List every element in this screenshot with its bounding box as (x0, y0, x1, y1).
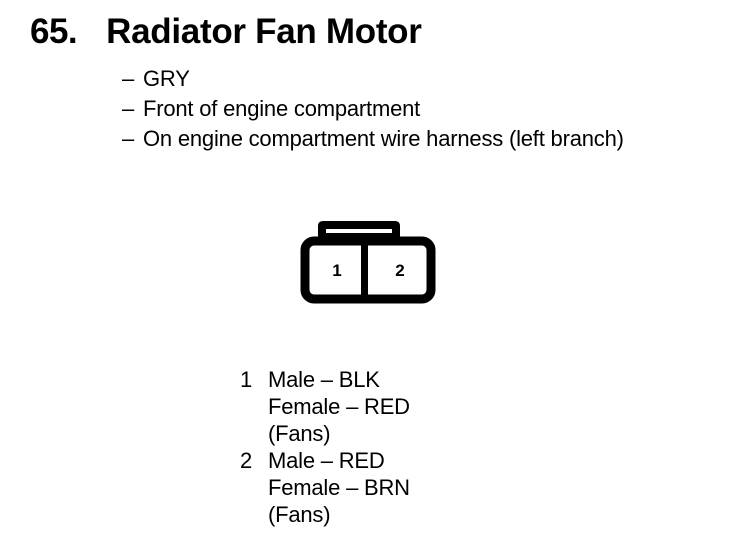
pin-circuit-note: (Fans) (268, 420, 560, 447)
pin-entry: 2 Male – RED Female – BRN (Fans) (240, 447, 560, 528)
attribute-text: GRY (143, 64, 190, 94)
attribute-text: On engine compartment wire harness (left… (143, 124, 624, 154)
pin-circuit-note: (Fans) (268, 501, 560, 528)
connector-svg: 1 2 (296, 216, 440, 304)
entry-title: Radiator Fan Motor (106, 12, 421, 52)
pin-legend: 1 Male – BLK Female – RED (Fans) 2 Male … (240, 366, 560, 528)
pin-number: 1 (240, 366, 268, 393)
cavity-label-2: 2 (395, 261, 404, 280)
attribute-item: – Front of engine compartment (122, 94, 722, 124)
dash-bullet-icon: – (122, 64, 143, 94)
connector-diagram: 1 2 (296, 216, 440, 304)
attribute-item: – GRY (122, 64, 722, 94)
pin-detail-lines: Male – RED Female – BRN (Fans) (268, 447, 560, 528)
cavity-divider (361, 241, 368, 299)
entry-number: 65. (30, 12, 77, 52)
pin-detail-lines: Male – BLK Female – RED (Fans) (268, 366, 560, 447)
attribute-item: – On engine compartment wire harness (le… (122, 124, 722, 154)
dash-bullet-icon: – (122, 94, 143, 124)
pin-female-wire: Female – BRN (268, 474, 560, 501)
pin-male-wire: Male – RED (268, 447, 560, 474)
attribute-text: Front of engine compartment (143, 94, 420, 124)
diagram-page: 65. Radiator Fan Motor – GRY – Front of … (0, 0, 736, 546)
attribute-list: – GRY – Front of engine compartment – On… (122, 64, 722, 154)
pin-number: 2 (240, 447, 268, 474)
cavity-label-1: 1 (332, 261, 341, 280)
pin-entry: 1 Male – BLK Female – RED (Fans) (240, 366, 560, 447)
dash-bullet-icon: – (122, 124, 143, 154)
page-title: 65. Radiator Fan Motor (30, 12, 422, 52)
pin-male-wire: Male – BLK (268, 366, 560, 393)
pin-female-wire: Female – RED (268, 393, 560, 420)
